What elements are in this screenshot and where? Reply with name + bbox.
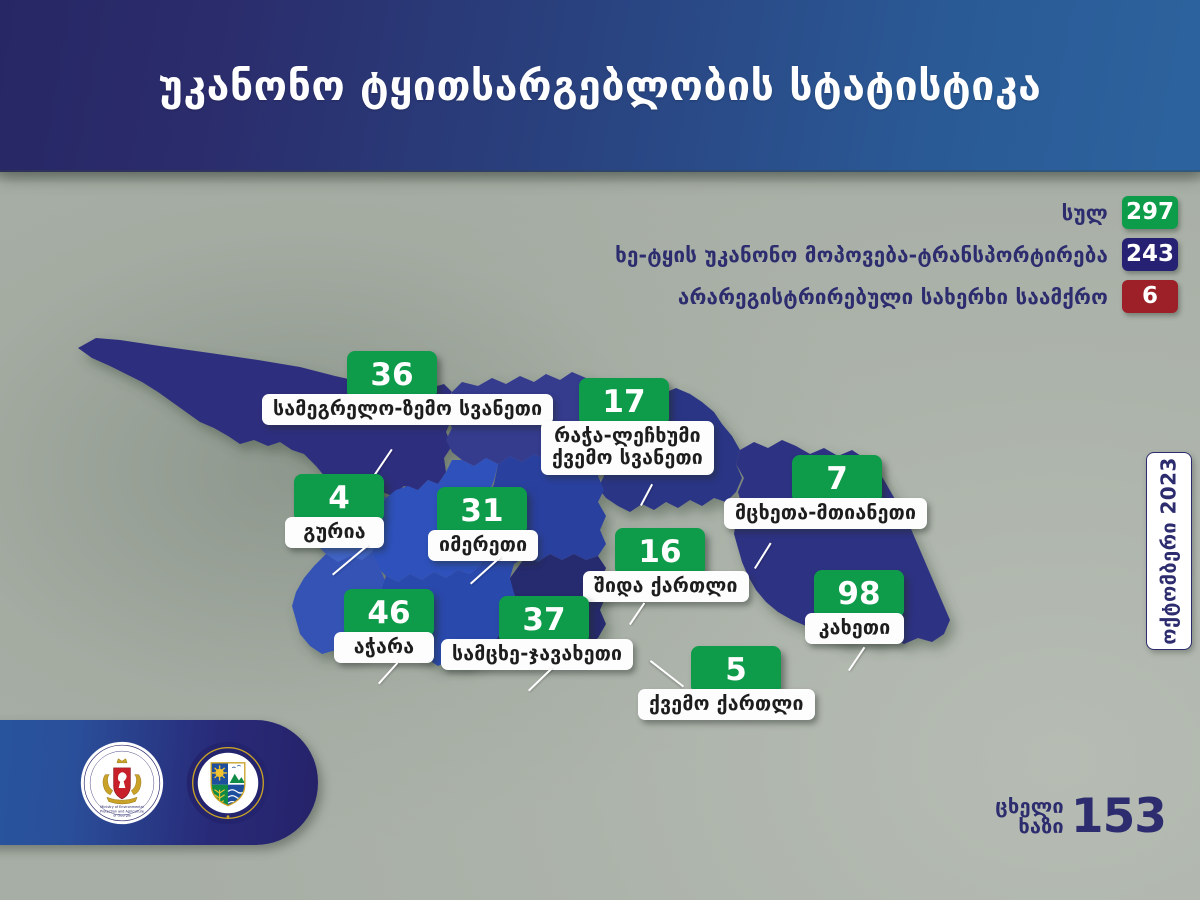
hotline-words: ცხელი ხაზი xyxy=(995,796,1064,836)
callout-value-kvemo: 5 xyxy=(691,646,781,694)
callout-shida[interactable]: 16 შიდა ქართლი xyxy=(583,528,749,602)
callout-label-samegrelo: სამეგრელო-ზემო სვანეთი xyxy=(262,394,553,425)
callout-imereti[interactable]: 31 იმერეთი xyxy=(428,487,538,561)
svg-text:of Georgia: of Georgia xyxy=(113,813,130,817)
callout-label-kakheti: კახეთი xyxy=(805,613,904,644)
callout-guria[interactable]: 4 გურია xyxy=(285,474,384,548)
callout-label-samtskhe: სამცხე-ჯავახეთი xyxy=(441,639,633,670)
header-banner: უკანონო ტყითსარგებლობის სტატისტიკა xyxy=(0,0,1200,172)
callout-value-samegrelo: 36 xyxy=(347,351,437,399)
callout-kvemo[interactable]: 5 ქვემო ქართლი xyxy=(638,646,815,720)
infographic-canvas: უკანონო ტყითსარგებლობის სტატისტიკა სულ 2… xyxy=(0,0,1200,900)
callout-kakheti[interactable]: 98 კახეთი xyxy=(805,570,904,644)
callout-label-racha: რაჭა-ლეჩხუმი ქვემო სვანეთი xyxy=(541,421,714,475)
callout-label-imereti: იმერეთი xyxy=(428,530,538,561)
callout-value-samtskhe: 37 xyxy=(499,596,589,644)
hotline-number: 153 xyxy=(1071,795,1166,838)
callout-samegrelo[interactable]: 36 სამეგრელო-ზემო სვანეთი xyxy=(262,351,553,425)
hotline: ცხელი ხაზი 153 xyxy=(995,795,1166,838)
callout-racha[interactable]: 17 რაჭა-ლეჩხუმი ქვემო სვანეთი xyxy=(541,378,714,475)
callout-label-mtskheta: მცხეთა-მთიანეთი xyxy=(724,498,927,529)
callout-label-guria: გურია xyxy=(285,517,384,548)
callout-value-racha: 17 xyxy=(579,378,669,426)
logo-pill: Ministry of Environmental Protection and… xyxy=(0,720,318,845)
callout-samtskhe[interactable]: 37 სამცხე-ჯავახეთი xyxy=(441,596,633,670)
ministry-emblem-icon: Ministry of Environmental Protection and… xyxy=(80,741,164,825)
callout-value-mtskheta: 7 xyxy=(792,455,882,503)
date-tab-text: ოქტომბერი 2023 xyxy=(1157,457,1181,644)
callout-label-adjara: აჭარა xyxy=(334,632,434,663)
callout-value-adjara: 46 xyxy=(344,589,434,637)
page-title: უკანონო ტყითსარგებლობის სტატისტიკა xyxy=(159,66,1042,107)
hotline-line1: ცხელი xyxy=(995,796,1064,816)
callout-label-racha-line1: რაჭა-ლეჩხუმი xyxy=(554,424,701,447)
department-emblem-icon xyxy=(186,741,270,825)
callout-adjara[interactable]: 46 აჭარა xyxy=(334,589,434,663)
callout-label-racha-line2: ქვემო სვანეთი xyxy=(552,446,703,469)
callout-value-guria: 4 xyxy=(294,474,384,522)
callout-value-imereti: 31 xyxy=(437,487,527,535)
callout-mtskheta[interactable]: 7 მცხეთა-მთიანეთი xyxy=(724,455,927,529)
callout-value-shida: 16 xyxy=(615,528,705,576)
callout-value-kakheti: 98 xyxy=(814,570,904,618)
date-tab: ოქტომბერი 2023 xyxy=(1146,452,1192,650)
hotline-line2: ხაზი xyxy=(995,816,1064,836)
callout-label-kvemo: ქვემო ქართლი xyxy=(638,689,815,720)
